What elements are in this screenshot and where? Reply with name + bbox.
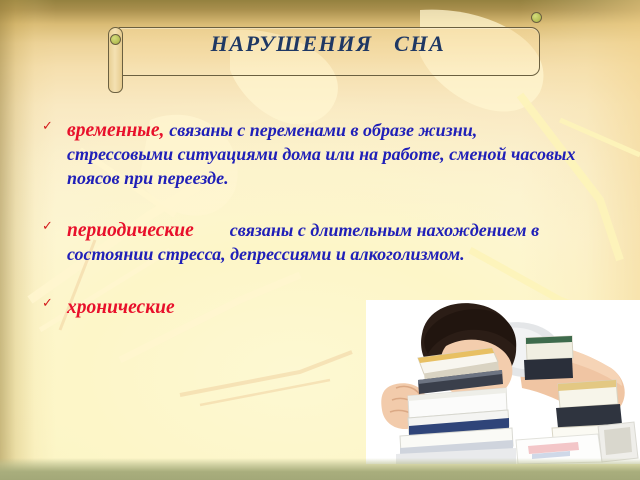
bullet-keyword: временные xyxy=(67,120,159,141)
title-scroll-frame: НАРУШЕНИЯ СНА xyxy=(108,18,542,80)
list-item: ✓ периодическиесвязаны с длительным нахо… xyxy=(42,218,578,267)
list-item: ✓ временные, связаны с переменами в обра… xyxy=(42,118,578,190)
check-icon: ✓ xyxy=(42,220,56,234)
bullet-text: хронические xyxy=(67,297,175,317)
check-icon: ✓ xyxy=(42,297,56,311)
check-icon: ✓ xyxy=(42,120,56,134)
bottom-accent-band xyxy=(0,458,640,480)
bullet-separator: , xyxy=(159,120,169,141)
photo-illustration xyxy=(366,300,640,464)
slide-canvas: НАРУШЕНИЯ СНА ✓ временные, связаны с пер… xyxy=(0,0,640,480)
scroll-knob-right-icon xyxy=(531,12,542,23)
photo-sleeping-student xyxy=(366,300,640,464)
bullet-keyword: периодические xyxy=(67,220,194,241)
bullet-keyword: хронические xyxy=(67,297,175,318)
page-title: НАРУШЕНИЯ СНА xyxy=(118,31,538,57)
bullet-text: временные, связаны с переменами в образе… xyxy=(67,120,575,188)
bullet-text: периодическиесвязаны с длительным нахожд… xyxy=(67,220,539,264)
